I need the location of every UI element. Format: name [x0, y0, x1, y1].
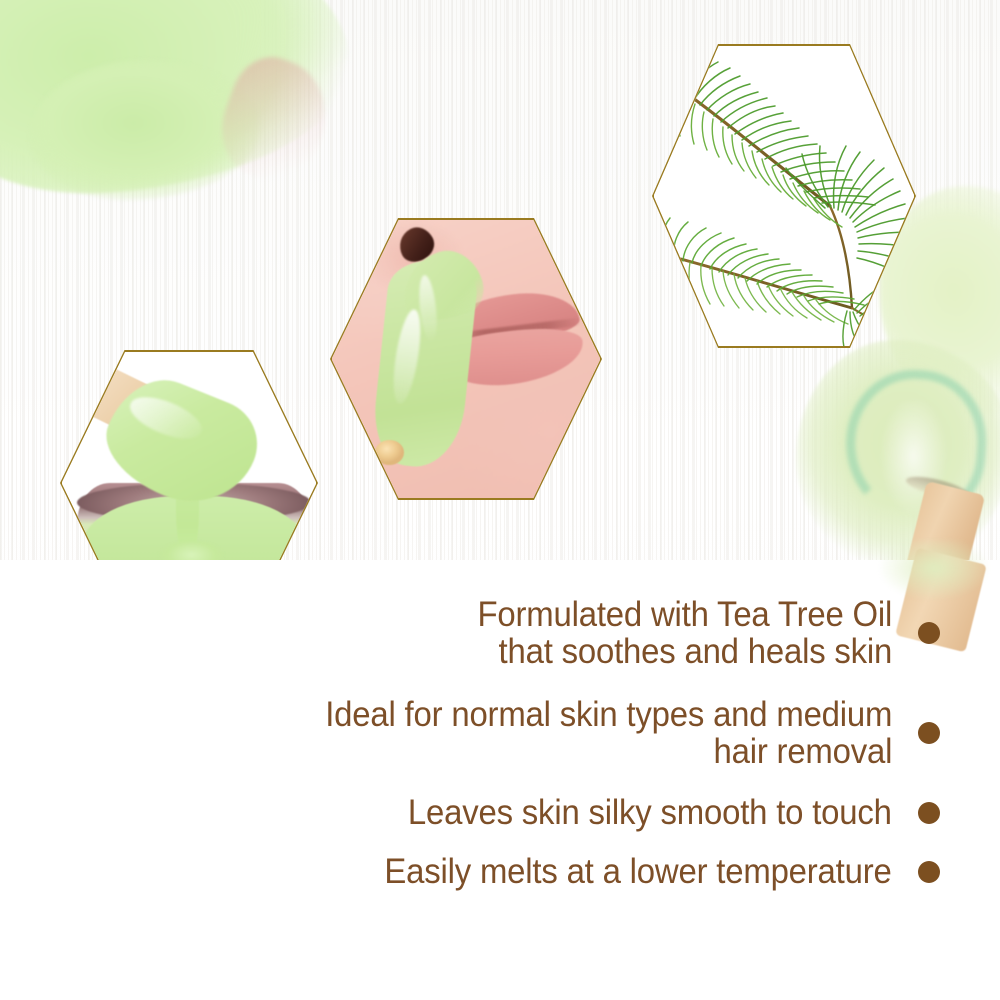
wax-smear-pink — [207, 47, 342, 194]
feature-item-4: Easily melts at a lower temperature — [150, 853, 940, 890]
bullet-dot-icon-3 — [918, 802, 940, 824]
feature-text-2: Ideal for normal skin types and medium h… — [325, 696, 892, 770]
wax-highlight — [866, 400, 961, 540]
tea-tree-branch-icon — [654, 46, 915, 347]
photo-tea-tree — [654, 46, 915, 347]
product-feature-graphic: Formulated with Tea Tree Oil that soothe… — [0, 0, 1000, 1000]
feature-item-1: Formulated with Tea Tree Oil that soothe… — [150, 596, 940, 670]
wax-bead — [375, 440, 405, 465]
feature-text-1: Formulated with Tea Tree Oil that soothe… — [477, 596, 892, 670]
wax-smear-right-lower — [796, 340, 1000, 570]
wax-smear-top-left — [0, 0, 358, 204]
bullet-dot-icon-1 — [918, 622, 940, 644]
feature-item-3: Leaves skin silky smooth to touch — [150, 794, 940, 831]
bullet-dot-icon-2 — [918, 722, 940, 744]
feature-text-4: Easily melts at a lower temperature — [385, 853, 892, 890]
feature-list: Formulated with Tea Tree Oil that soothe… — [150, 596, 940, 909]
wax-swirl-ring — [841, 365, 991, 524]
spatula-tip — [904, 472, 972, 503]
feature-text-3: Leaves skin silky smooth to touch — [408, 794, 892, 831]
bullet-dot-icon-4 — [918, 861, 940, 883]
photo-lip-application — [332, 220, 601, 499]
wax-smear-top-left-inner — [30, 60, 260, 200]
feature-item-2: Ideal for normal skin types and medium h… — [150, 696, 940, 770]
hexagon-image-tea-tree — [654, 46, 915, 347]
hexagon-image-lip-application — [332, 220, 601, 499]
